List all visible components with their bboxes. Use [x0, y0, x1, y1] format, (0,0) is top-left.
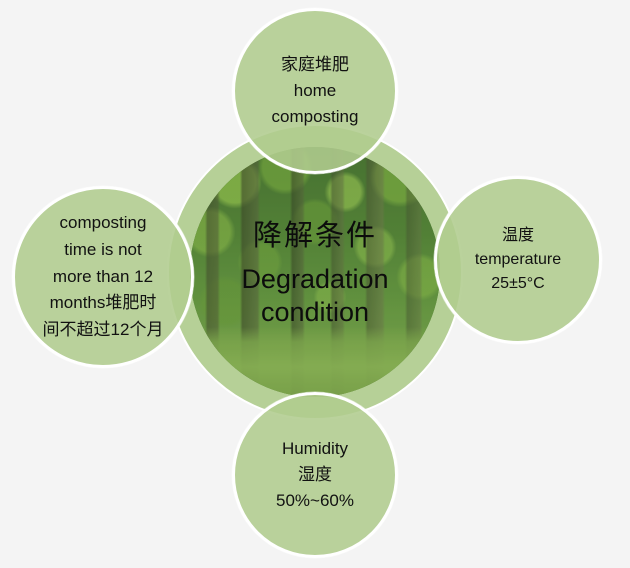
node-humidity-line-3: 50%~60% — [276, 488, 354, 514]
node-composting-time-line-3: more than 12 — [53, 264, 153, 291]
node-home-composting-line-1: 家庭堆肥 — [281, 52, 349, 78]
node-composting-time-line-4: months堆肥时 — [50, 290, 157, 317]
node-home-composting-line-3: composting — [272, 104, 359, 130]
node-home-composting-line-2: home — [294, 78, 337, 104]
node-composting-time[interactable]: composting time is not more than 12 mont… — [12, 186, 194, 368]
node-humidity-line-2: 湿度 — [298, 462, 332, 488]
node-temperature-line-2: temperature — [475, 248, 561, 272]
node-composting-time-line-2: time is not — [64, 237, 141, 264]
node-composting-time-line-1: composting — [60, 210, 147, 237]
degradation-condition-diagram: 家庭堆肥 home composting 温度 temperature 25±5… — [0, 0, 630, 568]
node-temperature[interactable]: 温度 temperature 25±5°C — [434, 176, 602, 344]
node-composting-time-line-5: 间不超过12个月 — [43, 317, 164, 344]
node-humidity-line-1: Humidity — [282, 436, 348, 462]
center-forest-image — [190, 147, 440, 397]
node-temperature-line-3: 25±5°C — [491, 272, 544, 296]
node-temperature-line-1: 温度 — [502, 224, 534, 248]
node-humidity[interactable]: Humidity 湿度 50%~60% — [232, 392, 398, 558]
node-home-composting[interactable]: 家庭堆肥 home composting — [232, 8, 398, 174]
forest-photo-tint — [190, 147, 440, 397]
